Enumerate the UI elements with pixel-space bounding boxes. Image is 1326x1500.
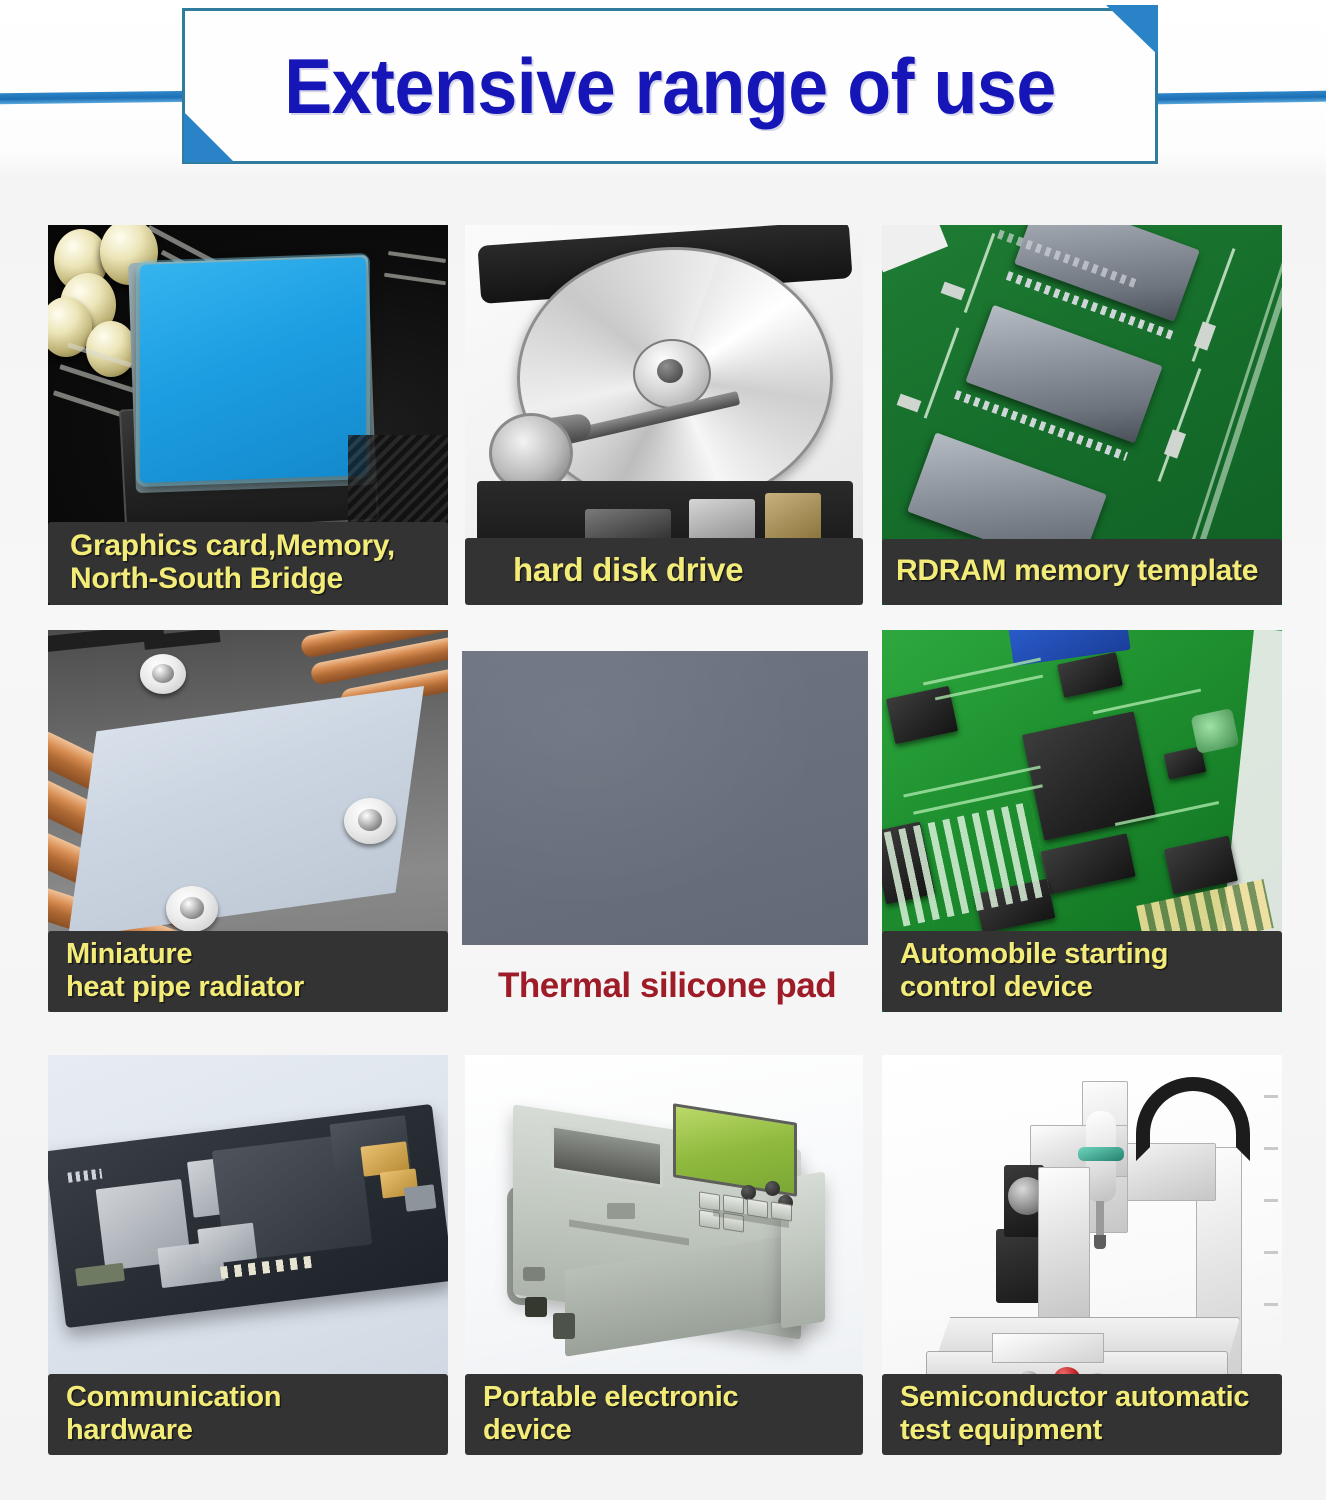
photo-thermal-silicone-pad-sheet bbox=[462, 651, 868, 945]
caption-thermal-silicone-pad: Thermal silicone pad bbox=[498, 966, 836, 1006]
caption-automobile-starting-control-device: Automobile starting control device bbox=[882, 931, 1282, 1012]
caption-hard-disk-drive: hard disk drive bbox=[465, 538, 863, 605]
caption-heat-pipe-radiator: Miniature heat pipe radiator bbox=[48, 931, 448, 1012]
caption-rdram-memory-template: RDRAM memory template bbox=[882, 539, 1282, 605]
gallery-tile-thermal-silicone-pad bbox=[462, 651, 868, 945]
caption-communication-hardware: Communication hardware bbox=[48, 1374, 448, 1455]
caption-graphics-card: Graphics card,Memory, North-South Bridge bbox=[48, 522, 448, 605]
gallery-tile-communication-hardware: Communication hardware bbox=[48, 1055, 448, 1455]
caption-semiconductor-automatic-test-equipment: Semiconductor automatic test equipment bbox=[882, 1374, 1282, 1455]
caption-portable-electronic-device: Portable electronic device bbox=[465, 1374, 863, 1455]
gallery-tile-automobile-starting-control-device: Automobile starting control device bbox=[882, 630, 1282, 1012]
gallery-tile-portable-electronic-device: Portable electronic device bbox=[465, 1055, 863, 1455]
gallery-tile-heat-pipe-radiator: Miniature heat pipe radiator bbox=[48, 630, 448, 1012]
gallery-grid: Graphics card,Memory, North-South Bridge… bbox=[0, 0, 1326, 1500]
gallery-tile-hard-disk-drive: hard disk drive bbox=[465, 225, 863, 605]
gallery-tile-rdram-memory-template: RDRAM memory template bbox=[882, 225, 1282, 605]
gallery-tile-semiconductor-automatic-test-equipment: Semiconductor automatic test equipment bbox=[882, 1055, 1282, 1455]
gallery-tile-graphics-card: Graphics card,Memory, North-South Bridge bbox=[48, 225, 448, 605]
